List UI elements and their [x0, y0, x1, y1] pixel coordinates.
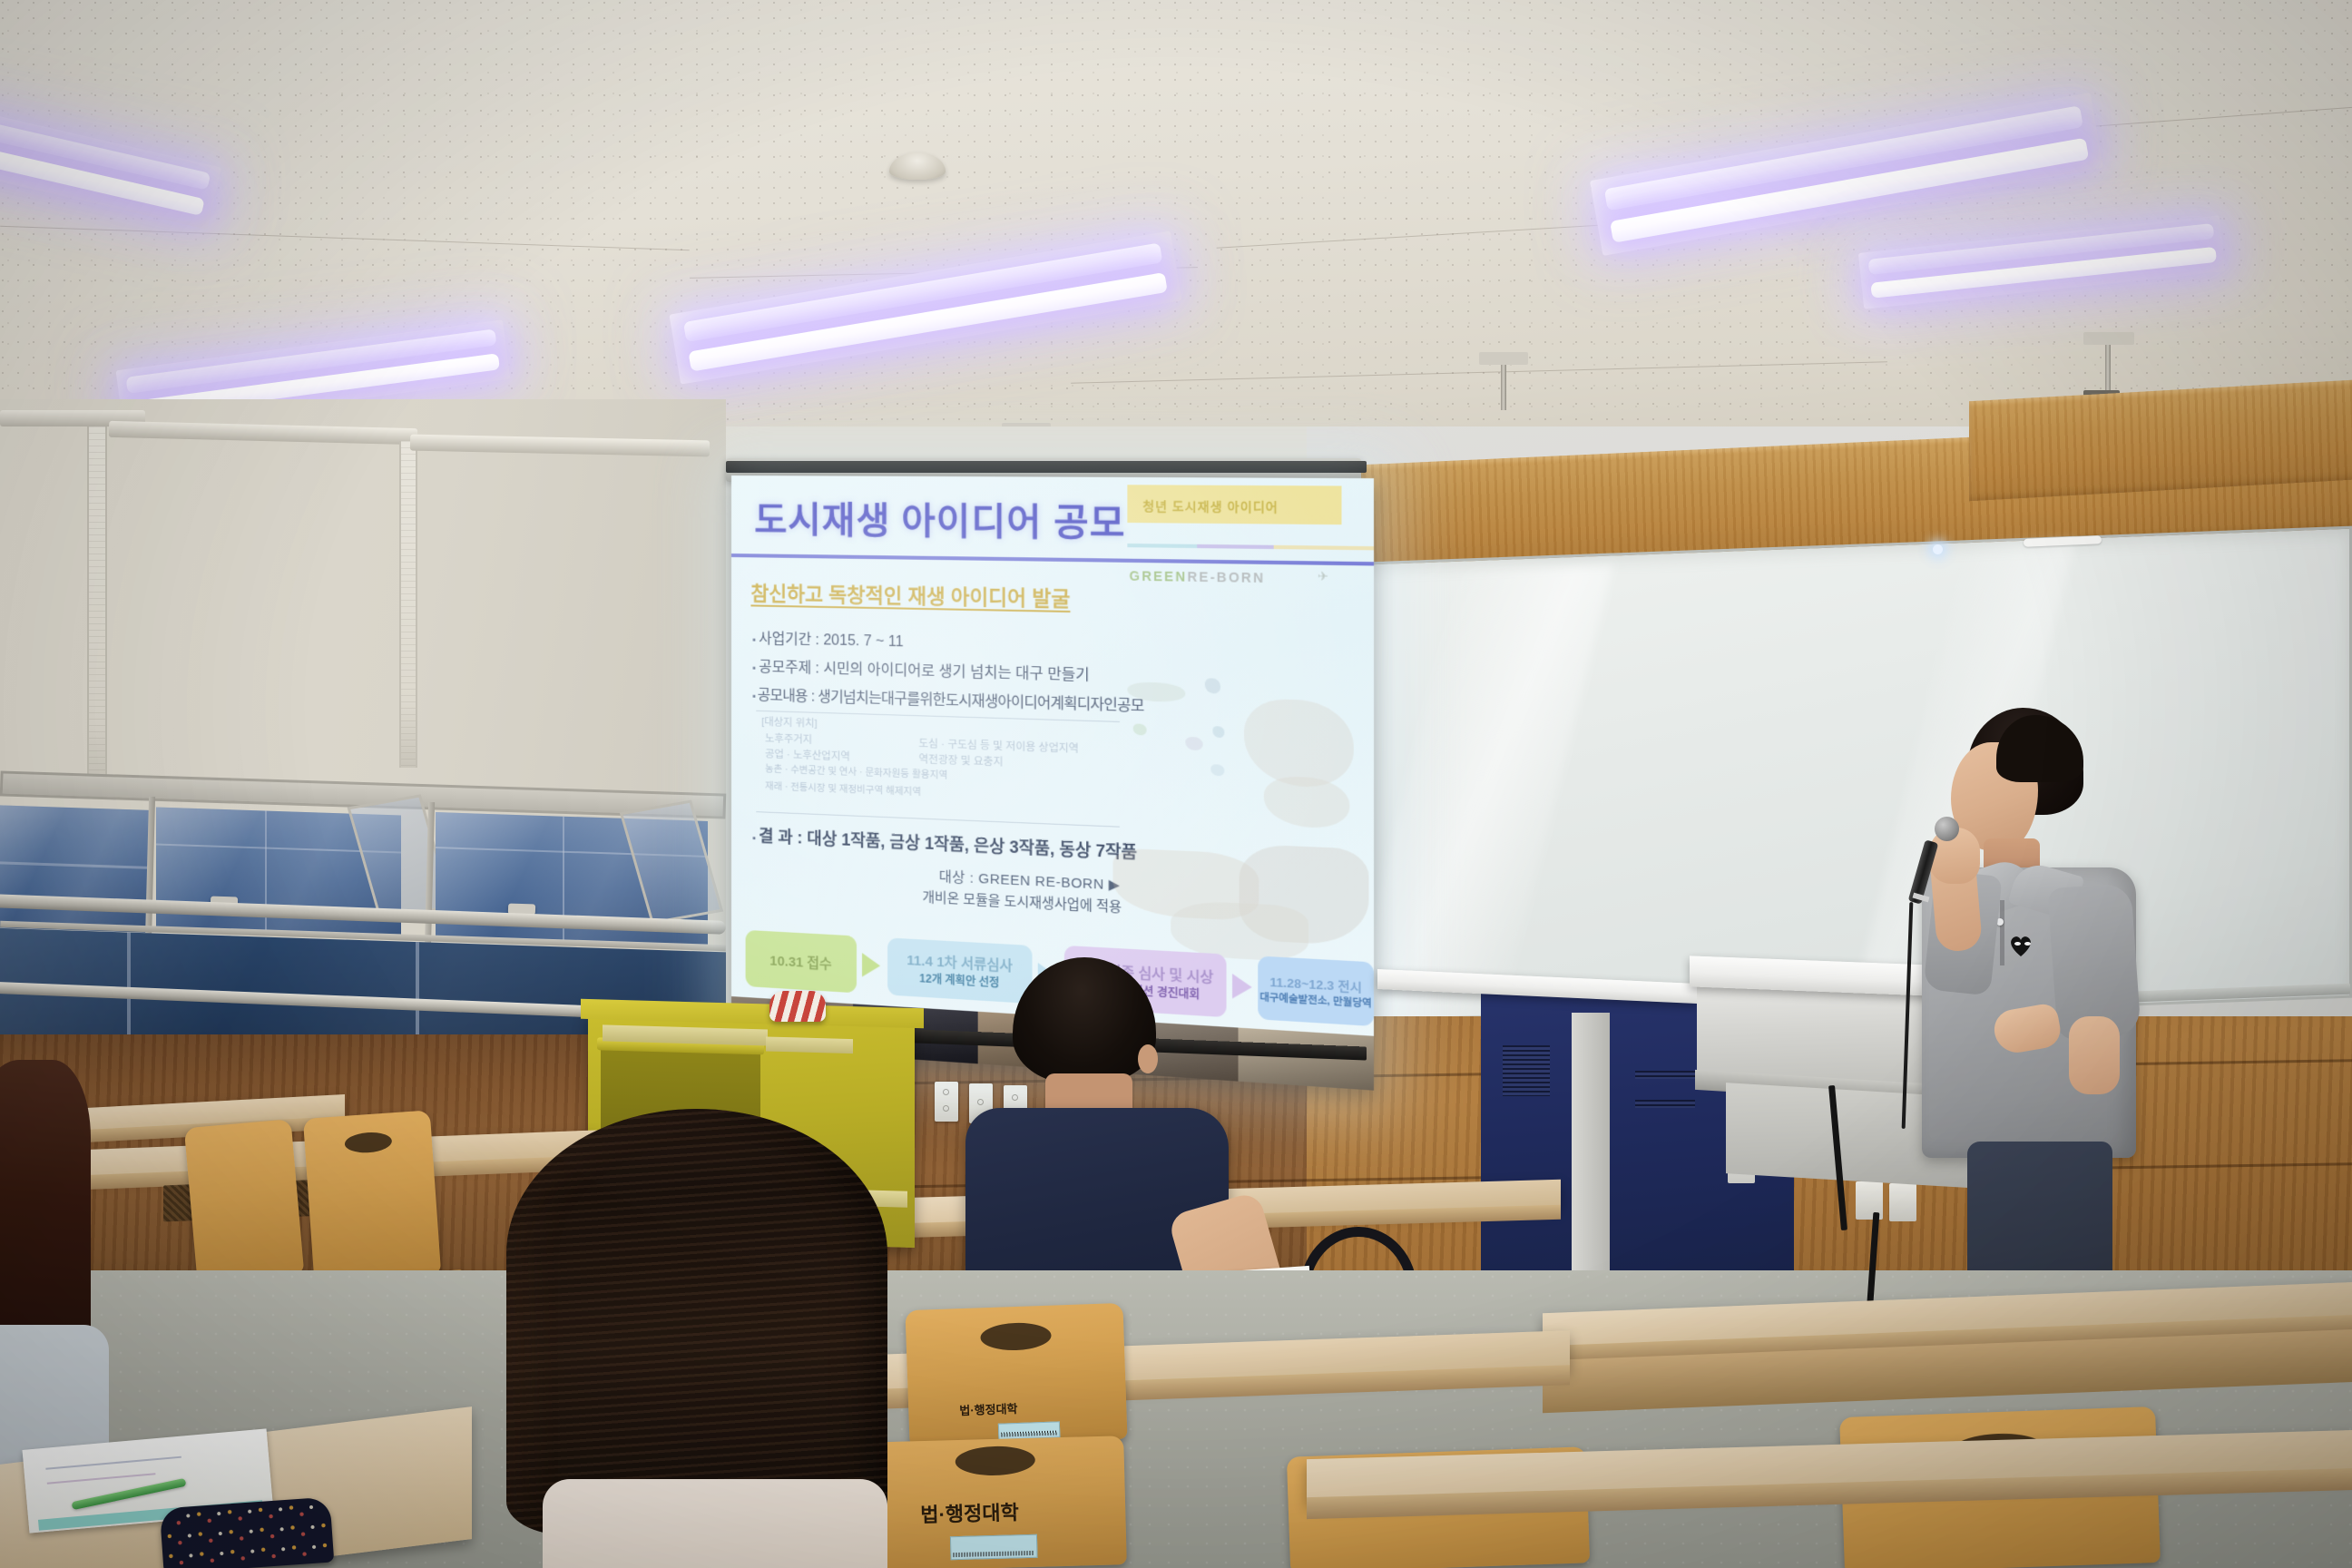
cabinet-vent [1635, 1071, 1695, 1079]
slide-title: 도시재생 아이디어 공모 [754, 490, 1125, 547]
lecture-hall-scene: 청년 도시재생 아이디어 도시재생 아이디어 공모 GREEN RE-BORN … [0, 0, 2352, 1568]
timeline-arrow-icon [862, 953, 880, 978]
slide-subheading: 참신하고 독창적인 재생 아이디어 발굴 [750, 577, 1070, 612]
striped-cloth-item [769, 991, 826, 1022]
audience-woman-long-hair [407, 1109, 987, 1568]
cabinet-stripe [1572, 1013, 1610, 1307]
slide-faint-item: 공업 · 노후산업지역 [765, 746, 850, 763]
pencil-case[interactable] [160, 1497, 335, 1568]
seated-man-ear [1138, 1044, 1158, 1073]
timeline-step: 10.31 접수 [746, 930, 857, 994]
cabinet-shelf [766, 1036, 853, 1053]
cabinet-vent [1635, 1100, 1695, 1108]
title-rule [731, 554, 1374, 565]
chair-handle-hole [344, 1131, 392, 1154]
window-blind[interactable] [87, 426, 107, 799]
logo-green-text: GREEN [1129, 568, 1187, 584]
slide-faint-item: 노후주거지 [765, 730, 812, 747]
slide-bullet: 공모내용 : 생기넘치는대구를위한도시재생아이디어계획디자인공모 [752, 682, 1143, 716]
projector-mount-rod [2105, 343, 2111, 396]
window-pane [0, 805, 150, 933]
wood-trim-band [1969, 379, 2352, 502]
presenter [1860, 708, 2178, 1361]
timeline-step-top: 10.31 접수 [769, 950, 831, 973]
woman-long-hair [506, 1109, 887, 1535]
airplane-icon: ✈ [1318, 569, 1328, 584]
slide-faint-title: [대상지 위치] [761, 714, 818, 730]
heart-logo-eye [2024, 942, 2031, 946]
status-led-icon [1933, 544, 1943, 554]
cabinet-vent [1503, 1045, 1550, 1096]
slide-faint-item: 역전광장 및 요충지 [918, 751, 1003, 769]
slide-result-bullet: 결 과 : 대상 1작품, 금상 1작품, 은상 3작품, 동상 7작품 [752, 823, 1137, 864]
projection-screen-top-bar [726, 461, 1367, 473]
projector-mount-plate [2083, 332, 2134, 345]
presenter-shirt-placket [2000, 900, 2004, 965]
title-rule-segment [1197, 544, 1274, 549]
presenter-hair-top [1996, 715, 2083, 782]
slide-bullet: 사업기간 : 2015. 7 ~ 11 [752, 625, 903, 651]
woman-hair [0, 1060, 91, 1359]
heart-logo-eye [2014, 942, 2021, 946]
window-blind[interactable] [399, 441, 417, 768]
microphone-head [1935, 817, 1959, 841]
chair-handle-hole [980, 1322, 1052, 1352]
presenter-right-forearm [2069, 1016, 2120, 1094]
projector-mount-rod [1501, 363, 1506, 410]
woman-top-garment [543, 1479, 887, 1568]
microphone-cable [1902, 902, 1914, 1129]
projector-mount-plate [1479, 352, 1528, 365]
seated-man-hair [1013, 957, 1156, 1084]
logo-reborn-text: RE-BORN [1187, 569, 1265, 585]
title-rule-segment [1127, 544, 1197, 548]
chair-back[interactable] [184, 1119, 304, 1282]
slide-map-illustration [1118, 666, 1364, 837]
slide-bullet: 공모주제 : 시민의 아이디어로 생기 넘치는 대구 만들기 [752, 654, 1089, 685]
whiteboard [1343, 526, 2352, 1035]
slide-header-tab-text: 청년 도시재생 아이디어 [1142, 496, 1279, 515]
title-rule-segment [1274, 545, 1374, 551]
